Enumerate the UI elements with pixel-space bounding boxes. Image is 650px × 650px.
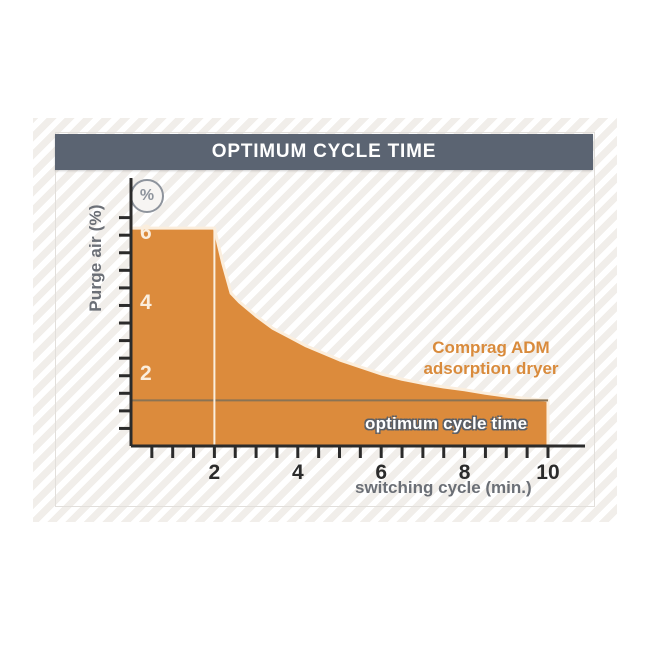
optimum-cycle-time-caption: optimum cycle time (365, 414, 527, 434)
x-tick-label: 6 (361, 461, 401, 485)
y-tick-label: 2 (140, 362, 152, 386)
chart-figure: OPTIMUM CYCLE TIME % Purge air (%) switc… (0, 0, 650, 650)
x-tick-label: 2 (194, 461, 234, 485)
x-tick-label: 4 (278, 461, 318, 485)
chart-title: OPTIMUM CYCLE TIME (212, 141, 436, 163)
x-tick-label: 10 (528, 461, 568, 485)
y-tick-label: 4 (140, 291, 152, 315)
y-tick-label: 6 (140, 221, 152, 245)
chart-title-bar: OPTIMUM CYCLE TIME (55, 134, 593, 170)
series-annotation-line2: adsorption dryer (396, 358, 586, 379)
y-axis-title: Purge air (%) (86, 158, 106, 358)
series-annotation-line1: Comprag ADM (396, 337, 586, 358)
percent-symbol: % (140, 187, 154, 205)
x-tick-label: 8 (445, 461, 485, 485)
series-annotation: Comprag ADM adsorption dryer (396, 337, 586, 380)
percent-icon: % (130, 179, 164, 213)
